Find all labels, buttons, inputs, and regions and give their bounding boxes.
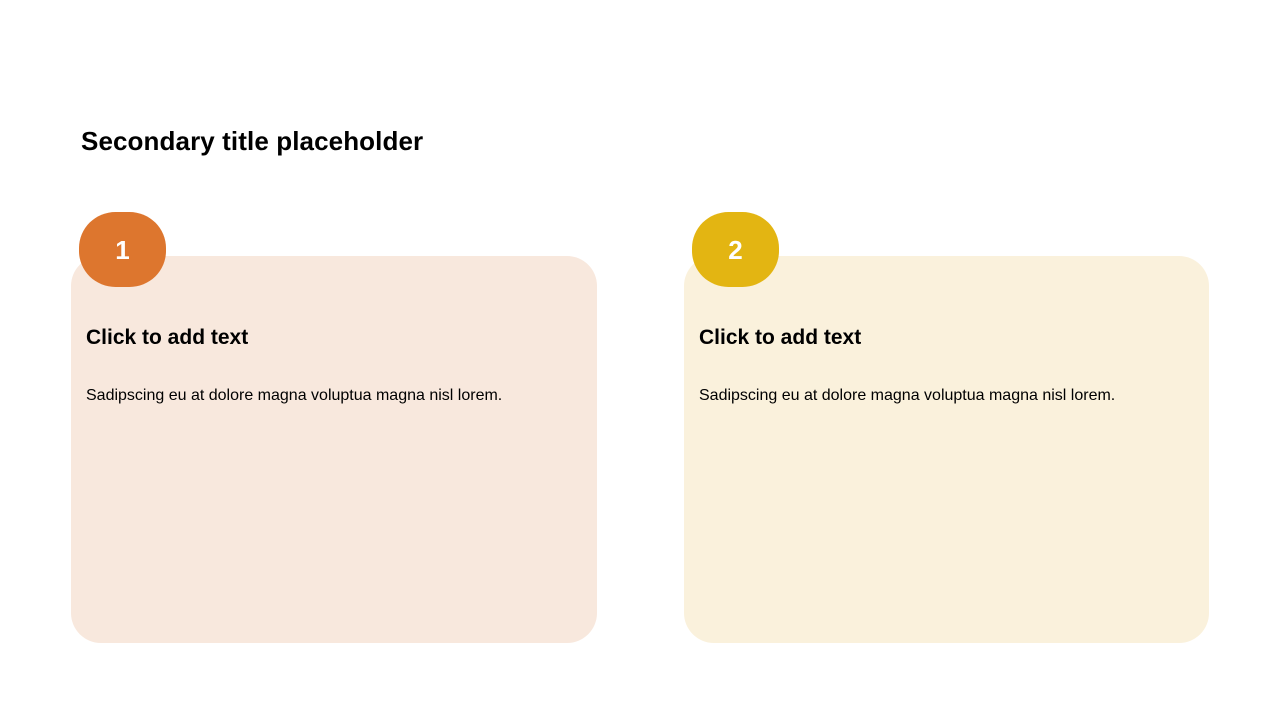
card-body-2[interactable]: Click to add text Sadipscing eu at dolor… bbox=[684, 256, 1209, 643]
card-number-label-1: 1 bbox=[115, 237, 129, 263]
card-heading-1[interactable]: Click to add text bbox=[86, 325, 567, 350]
card-heading-2[interactable]: Click to add text bbox=[699, 325, 1179, 350]
card-body-1[interactable]: Click to add text Sadipscing eu at dolor… bbox=[71, 256, 597, 643]
card-number-badge-2: 2 bbox=[692, 212, 779, 287]
card-text-1[interactable]: Sadipscing eu at dolore magna voluptua m… bbox=[86, 385, 567, 407]
card-number-label-2: 2 bbox=[728, 237, 742, 263]
card-number-badge-1: 1 bbox=[79, 212, 166, 287]
card-text-2[interactable]: Sadipscing eu at dolore magna voluptua m… bbox=[699, 385, 1179, 407]
content-cards-row: Click to add text Sadipscing eu at dolor… bbox=[0, 0, 1280, 720]
slide-canvas: Secondary title placeholder Click to add… bbox=[0, 0, 1280, 720]
